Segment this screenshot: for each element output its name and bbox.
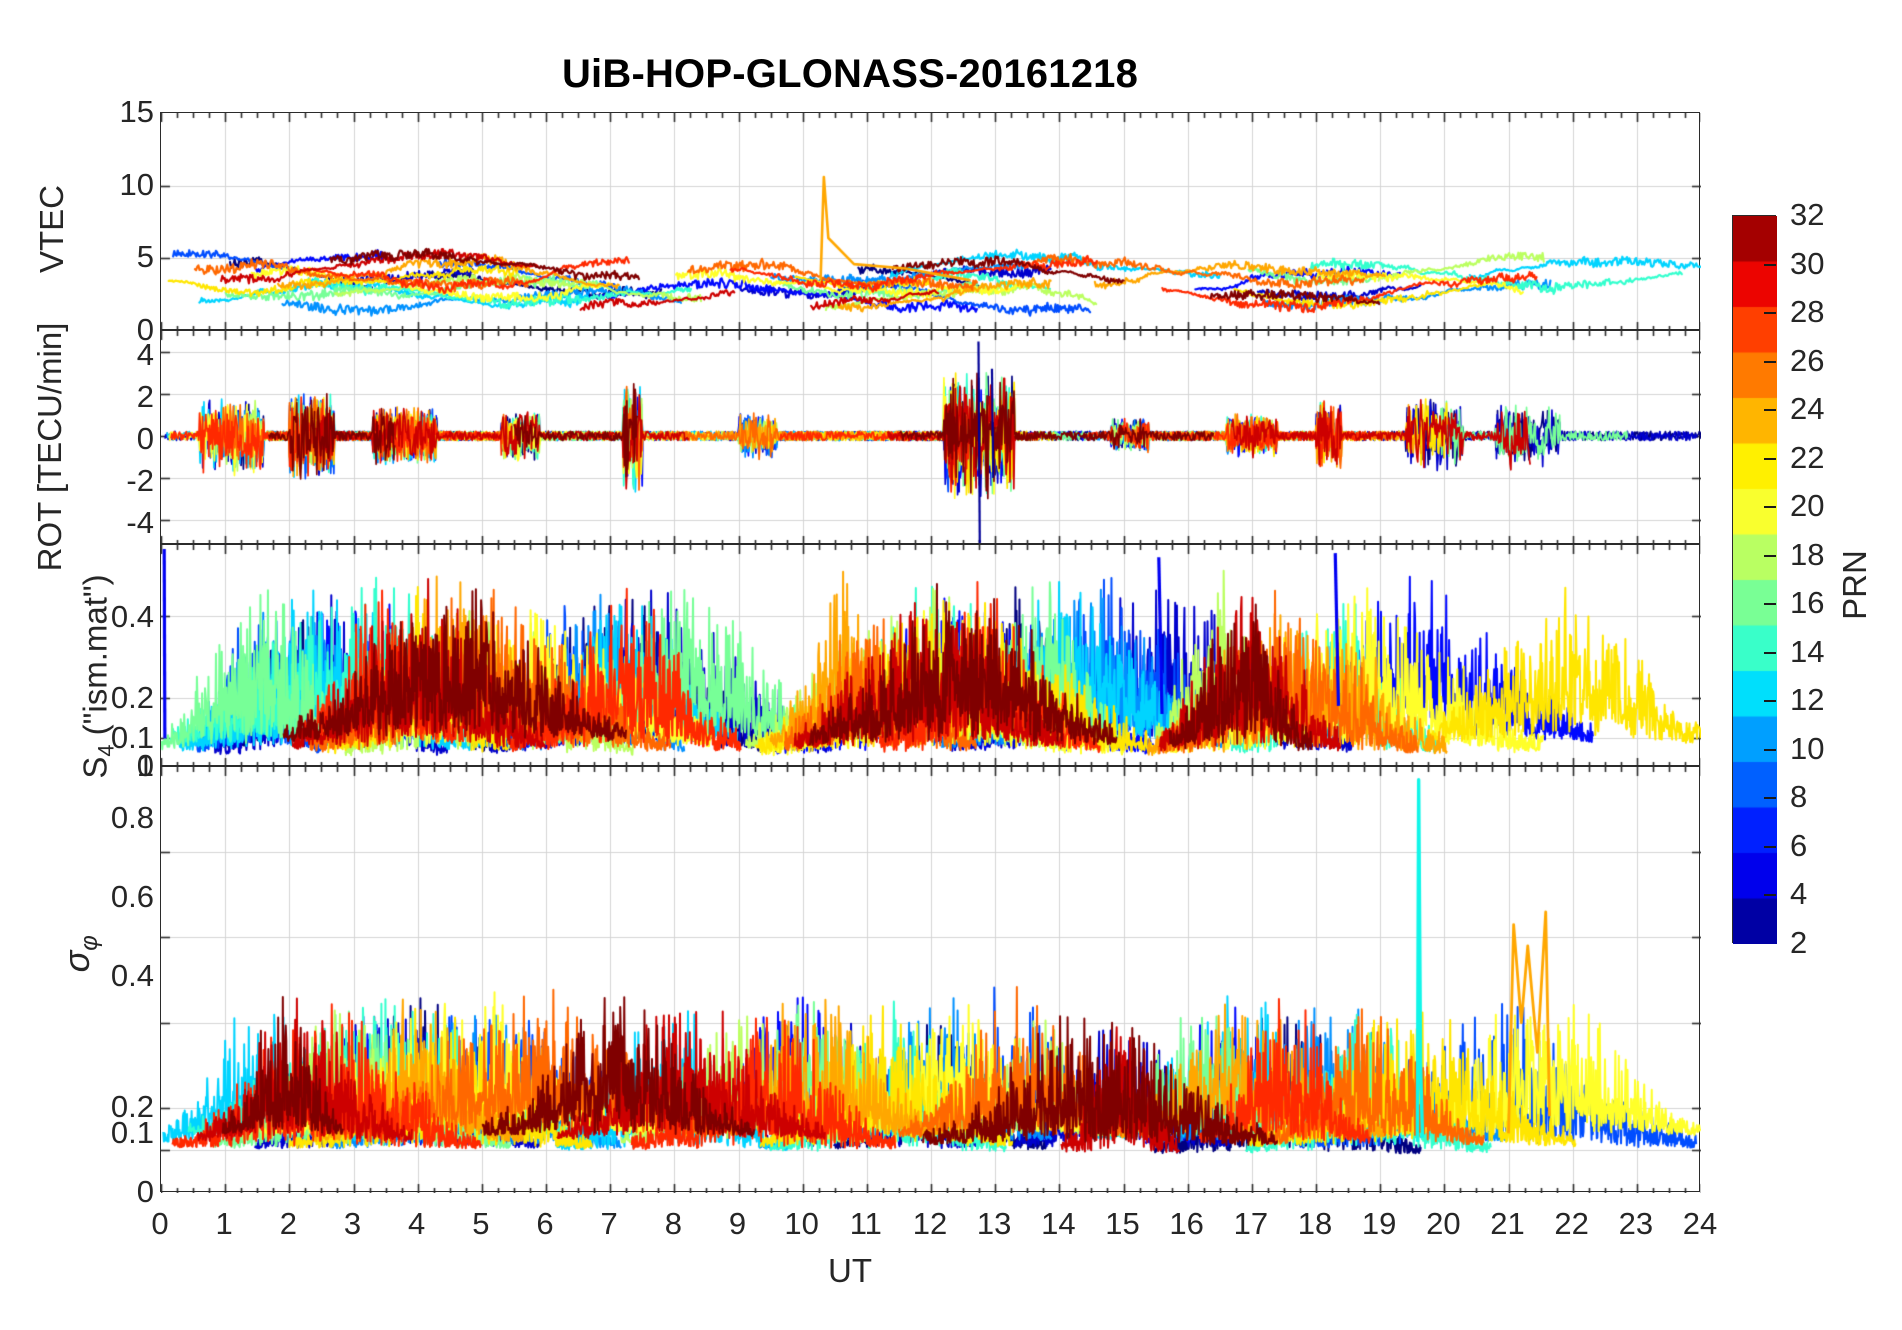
- ytick: 4: [137, 337, 154, 373]
- colorbar-tick-label: 4: [1790, 876, 1807, 912]
- colorbar-tick-label: 8: [1790, 779, 1807, 815]
- colorbar-tick-mark: [1764, 749, 1776, 751]
- vtec-axis-label: VTEC: [33, 149, 71, 309]
- ytick: 15: [120, 94, 154, 130]
- x-tick-label: 2: [280, 1206, 297, 1242]
- colorbar-tick-mark: [1764, 846, 1776, 848]
- s4-label-subscript: 4: [93, 744, 118, 756]
- x-tick-label: 4: [408, 1206, 425, 1242]
- x-tick-label: 0: [151, 1206, 168, 1242]
- ytick: 0: [137, 1174, 154, 1210]
- colorbar-tick-mark: [1764, 797, 1776, 799]
- x-tick-label: 10: [784, 1206, 818, 1242]
- ytick: 1: [137, 748, 154, 784]
- x-axis-label: UT: [0, 1252, 1700, 1290]
- x-tick-label: 3: [344, 1206, 361, 1242]
- sigma-plot-area: [161, 767, 1701, 1193]
- ytick: 10: [120, 167, 154, 203]
- colorbar-tick-label: 20: [1790, 488, 1824, 524]
- ytick: 5: [137, 239, 154, 275]
- colorbar-tick-label: 24: [1790, 391, 1824, 427]
- colorbar-label: PRN: [1836, 525, 1874, 645]
- x-tick-label: 17: [1234, 1206, 1268, 1242]
- colorbar-tick-label: 6: [1790, 828, 1807, 864]
- colorbar-tick-label: 22: [1790, 440, 1824, 476]
- panel-vtec: [160, 112, 1700, 330]
- x-tick-label: 15: [1105, 1206, 1139, 1242]
- panel-s4: [160, 544, 1700, 766]
- colorbar-tick-label: 28: [1790, 294, 1824, 330]
- panel-rot: [160, 330, 1700, 544]
- x-tick-label: 7: [601, 1206, 618, 1242]
- x-tick-label: 13: [977, 1206, 1011, 1242]
- x-tick-label: 9: [729, 1206, 746, 1242]
- ytick: 2: [137, 379, 154, 415]
- colorbar-tick-label: 30: [1790, 246, 1824, 282]
- phi-subscript: φ: [76, 935, 103, 951]
- x-tick-label: 8: [665, 1206, 682, 1242]
- x-tick-label: 22: [1554, 1206, 1588, 1242]
- colorbar-tick-label: 10: [1790, 731, 1824, 767]
- colorbar-tick-mark: [1764, 264, 1776, 266]
- x-tick-label: 16: [1169, 1206, 1203, 1242]
- panel-sigma-phi: [160, 766, 1700, 1192]
- colorbar-tick-mark: [1764, 458, 1776, 460]
- x-tick-label: 14: [1041, 1206, 1075, 1242]
- colorbar-tick-mark: [1764, 506, 1776, 508]
- x-tick-label: 6: [536, 1206, 553, 1242]
- sigma-symbol: σ: [56, 951, 97, 973]
- ytick: 0: [137, 421, 154, 457]
- x-tick-label: 21: [1490, 1206, 1524, 1242]
- vtec-ytick-labels: 15 10 5 0: [58, 112, 154, 330]
- x-tick-label: 18: [1298, 1206, 1332, 1242]
- x-tick-label: 19: [1362, 1206, 1396, 1242]
- sigma-axis-label: σφ: [56, 894, 104, 1014]
- figure-root: UiB-HOP-GLONASS-20161218 15 10 5 0 VTEC …: [0, 0, 1902, 1330]
- colorbar: [1732, 215, 1776, 943]
- vtec-plot-area: [161, 113, 1701, 331]
- colorbar-tick-mark: [1764, 555, 1776, 557]
- colorbar-tick-mark: [1764, 361, 1776, 363]
- colorbar-tick-label: 16: [1790, 585, 1824, 621]
- ytick: 0.6: [111, 879, 154, 915]
- colorbar-tick-mark: [1764, 312, 1776, 314]
- x-tick-label: 5: [472, 1206, 489, 1242]
- ytick: 0.8: [111, 800, 154, 836]
- colorbar-tick-label: 2: [1790, 925, 1807, 961]
- x-tick-label: 1: [216, 1206, 233, 1242]
- s4-label-suffix: ("ism.mat"): [77, 574, 114, 744]
- figure-title: UiB-HOP-GLONASS-20161218: [0, 52, 1700, 97]
- x-tick-label: 20: [1426, 1206, 1460, 1242]
- colorbar-tick-mark: [1764, 409, 1776, 411]
- x-tick-label: 24: [1683, 1206, 1717, 1242]
- ytick: -4: [126, 505, 154, 541]
- x-tick-label: 23: [1619, 1206, 1653, 1242]
- colorbar-tick-mark: [1764, 652, 1776, 654]
- rot-plot-area: [161, 331, 1701, 545]
- colorbar-tick-label: 26: [1790, 343, 1824, 379]
- ytick: 0.4: [111, 958, 154, 994]
- ytick: -2: [126, 463, 154, 499]
- colorbar-tick-label: 12: [1790, 682, 1824, 718]
- colorbar-tick-label: 14: [1790, 634, 1824, 670]
- colorbar-tick-mark: [1764, 700, 1776, 702]
- x-tick-label: 12: [913, 1206, 947, 1242]
- x-tick-label: 11: [850, 1206, 882, 1242]
- colorbar-tick-mark: [1764, 603, 1776, 605]
- s4-plot-area: [161, 545, 1701, 767]
- colorbar-gradient: [1733, 216, 1777, 944]
- colorbar-tick-label: 32: [1790, 197, 1824, 233]
- colorbar-tick-label: 18: [1790, 537, 1824, 573]
- colorbar-tick-mark: [1764, 894, 1776, 896]
- ytick: 0.1: [111, 1115, 154, 1151]
